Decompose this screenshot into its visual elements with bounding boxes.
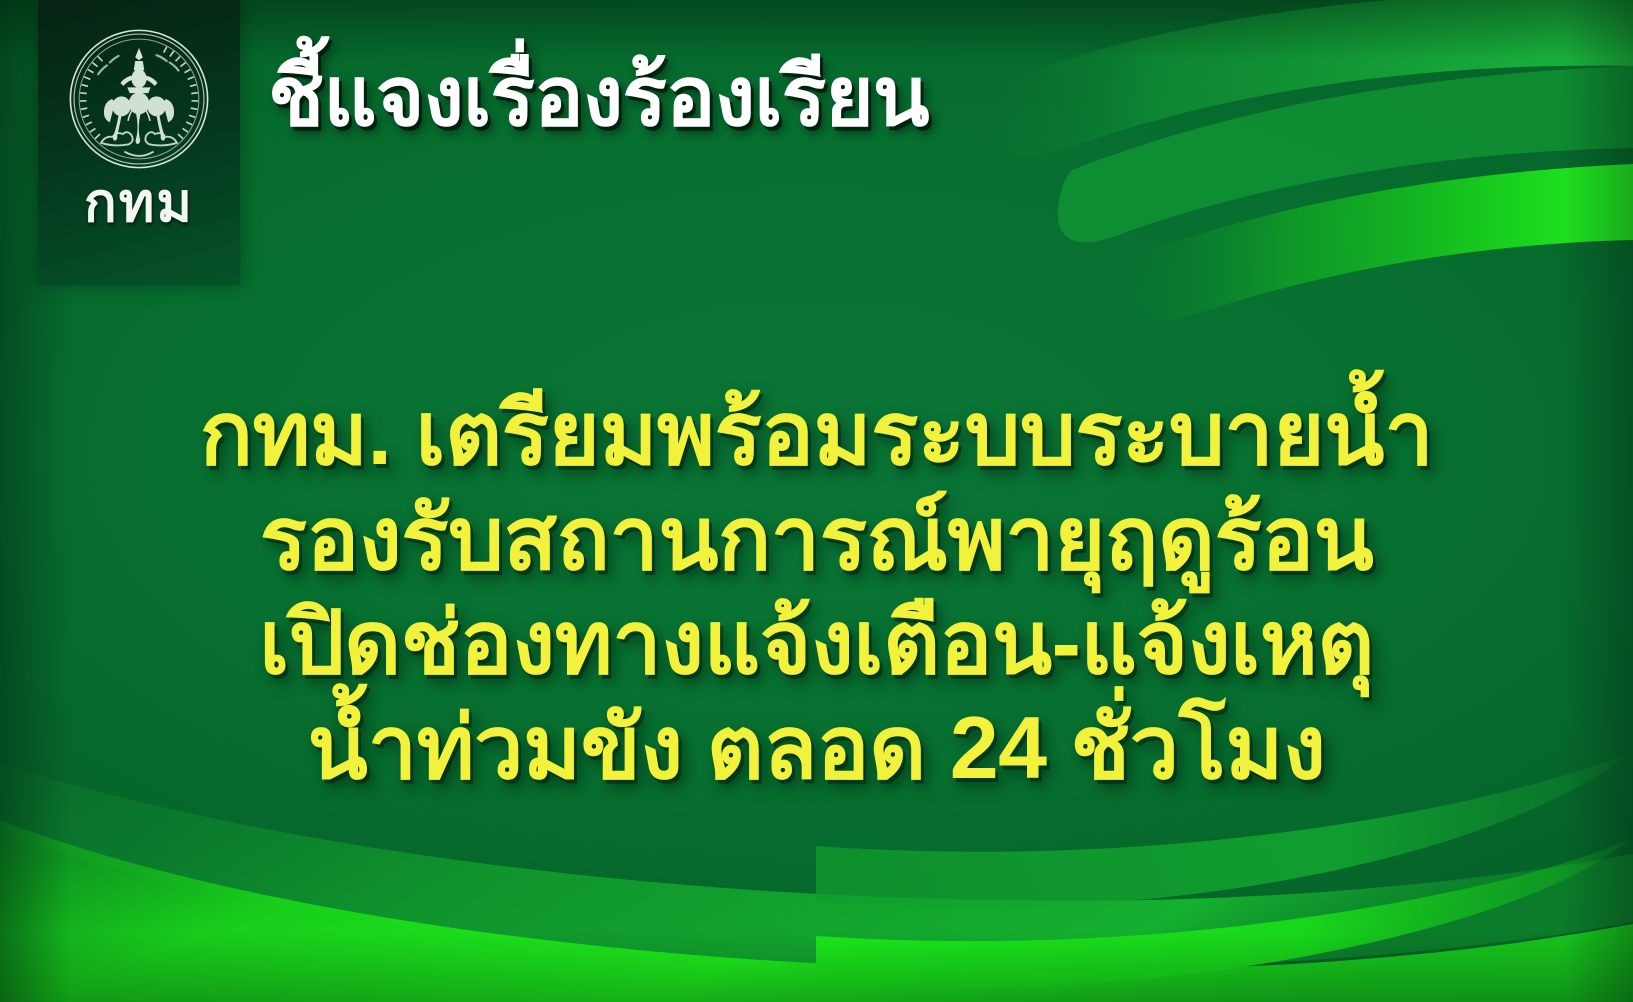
- headline-line-4: น้ำท่วมขัง ตลอด 24 ชั่วโมง: [0, 696, 1633, 801]
- headline-line-1: กทม. เตรียมพร้อมระบบระบายน้ำ: [0, 382, 1633, 487]
- bma-seal-icon: [66, 26, 212, 172]
- logo-abbreviation: กทม: [84, 176, 194, 230]
- poster-canvas: กทม ชี้แจงเรื่องร้องเรียน กทม. เตรียมพร้…: [0, 0, 1633, 1002]
- headline-line-3: เปิดช่องทางแจ้งเตือน-แจ้งเหตุ: [0, 591, 1633, 696]
- logo-panel: กทม: [38, 0, 240, 285]
- headline-line-2: รองรับสถานการณ์พายุฤดูร้อน: [0, 487, 1633, 592]
- page-title: ชี้แจงเรื่องร้องเรียน: [268, 52, 929, 142]
- headline-block: กทม. เตรียมพร้อมระบบระบายน้ำ รองรับสถานก…: [0, 382, 1633, 801]
